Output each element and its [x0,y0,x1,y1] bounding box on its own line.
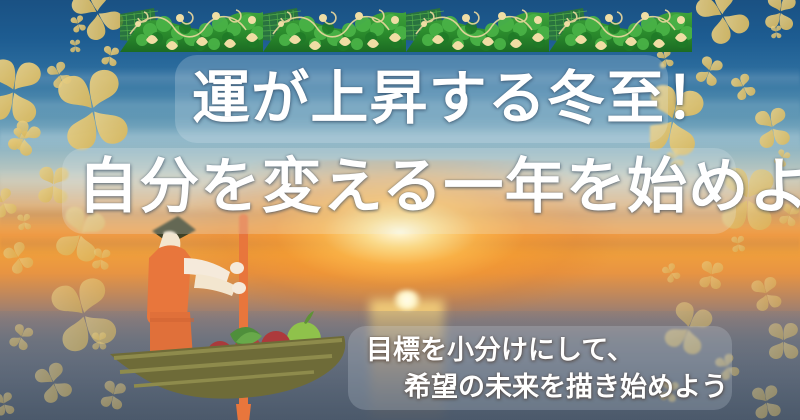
headline-line-2: 自分を変える一年を始めよう [78,152,800,222]
gold-clover-icon [88,330,110,352]
gold-clover-icon [1,317,40,356]
sun-disc [392,290,422,310]
subhead-line-2: 希望の未来を描き始めよう [404,371,728,404]
promo-banner: 運が上昇する冬至！ 自分を変える一年を始めよう 目標を小分けにして、 希望の未来… [0,0,800,420]
garland-tile [406,0,549,52]
gold-clover-icon [723,67,763,107]
gold-clover-icon [727,233,749,255]
gold-clover-icon [0,234,42,283]
gold-clover-icon [742,270,791,319]
gold-clover-icon [760,318,800,365]
garland-tile [120,0,263,52]
clover-garland-banner [120,0,692,52]
headline-line-1: 運が上昇する冬至！ [192,66,724,132]
subhead-line-1: 目標を小分けにして、 [366,334,634,367]
gold-clover-icon [0,388,20,420]
gold-clover-icon [93,375,134,416]
gold-clover-icon [743,379,789,420]
garland-tile [263,0,406,52]
gold-clover-icon [744,100,800,156]
gold-clover-icon [67,38,84,55]
garland-tile [549,0,692,52]
gold-clover-icon [13,211,35,233]
gold-clover-icon [30,262,135,367]
gold-clover-icon [768,24,785,41]
gold-clover-icon [692,256,730,294]
gold-clover-icon [656,258,686,288]
